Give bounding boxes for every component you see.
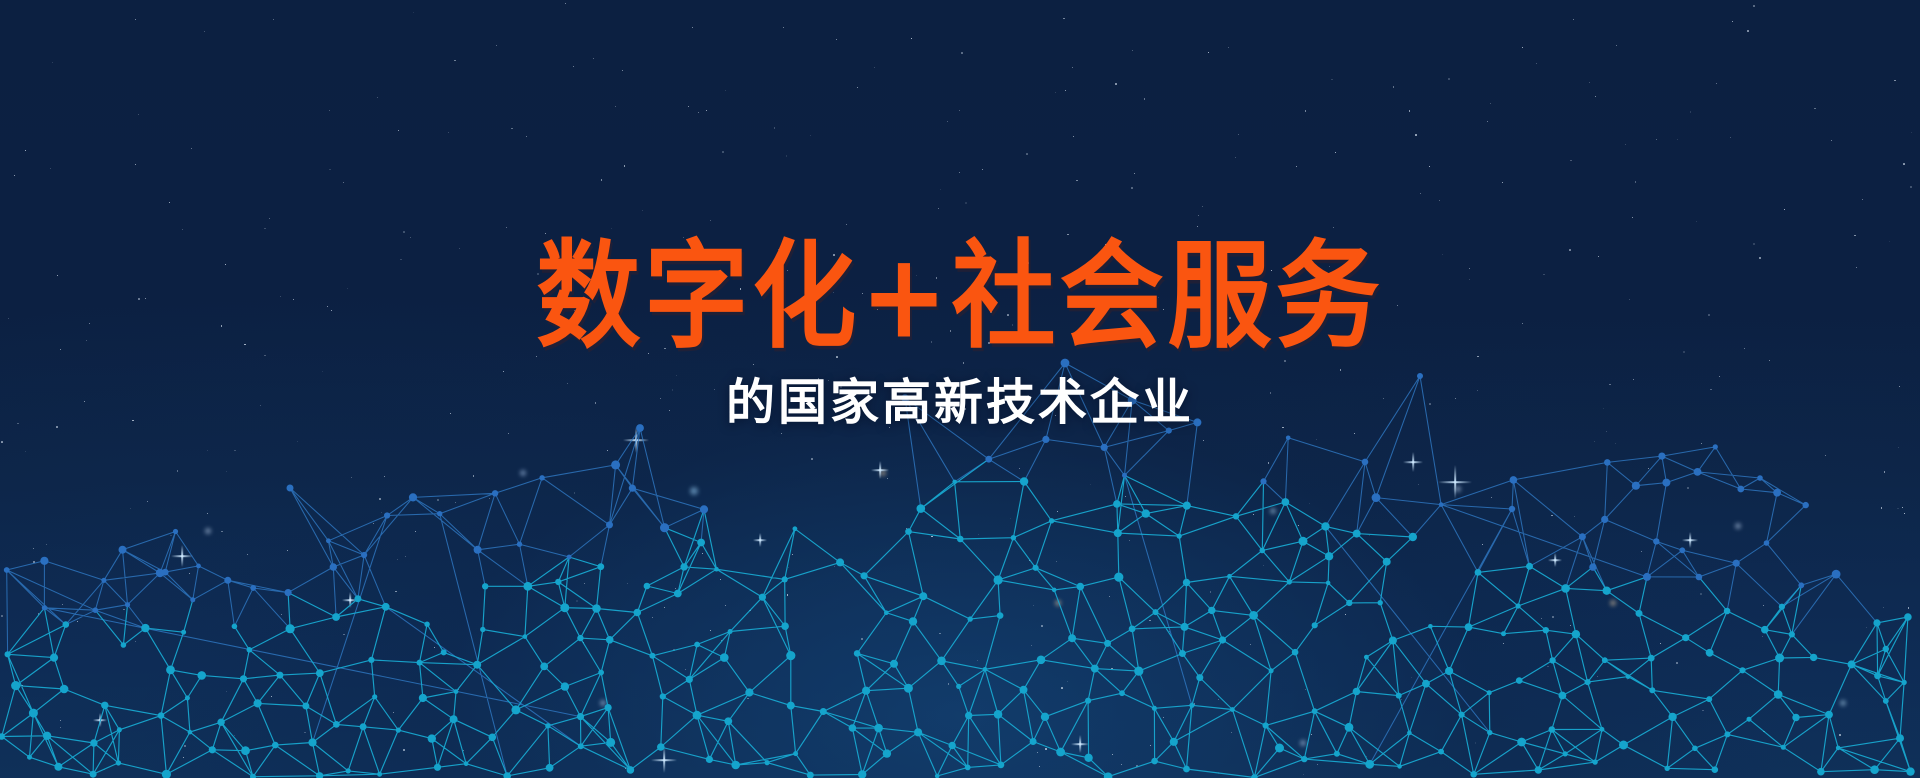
star-dot [403,231,405,233]
star-dot [1144,98,1146,100]
network-node [883,749,891,757]
network-node [781,622,789,630]
star-dot [244,344,246,346]
network-node [90,739,97,746]
network-node [793,751,798,756]
network-node [1487,690,1492,695]
network-node [1365,760,1374,769]
star-dot [1448,78,1450,80]
network-node [1409,533,1417,541]
network-node [1346,600,1352,606]
network-node [254,699,262,707]
network-node [1561,584,1570,593]
network-node [511,705,520,714]
star-dot [1690,111,1691,112]
star-dot [1131,187,1133,189]
network-node [1233,513,1239,519]
star-dot [1732,21,1733,22]
network-node [1724,731,1730,737]
network-node [1353,530,1361,538]
network-node [209,746,216,753]
star-dot [398,130,399,131]
star-dot [1856,267,1857,268]
star-dot [1072,67,1073,68]
network-node [489,734,497,742]
star-dot [273,19,274,20]
network-node [217,719,224,726]
network-node [1579,533,1586,540]
network-node [627,766,635,774]
network-node [745,688,753,696]
network-node [354,595,361,602]
network-node [545,723,550,728]
network-node [224,577,231,584]
network-node [302,703,309,710]
network-node [247,647,253,653]
network-node [1114,573,1123,582]
star-dot [740,288,742,290]
network-node [1559,692,1567,700]
star-dot [1335,152,1336,153]
star-dot [810,135,811,136]
star-dot [264,355,265,356]
network-node [905,528,912,535]
star-dot [204,31,206,33]
network-node [1724,608,1731,615]
network-node [1152,706,1157,711]
network-node [190,597,195,602]
network-node [919,592,927,600]
network-node [250,585,256,591]
network-node [1282,498,1290,506]
star-dot [57,275,58,276]
network-node [820,708,827,715]
network-node [1372,493,1381,502]
star-dot [611,228,612,229]
network-node [1739,667,1745,673]
network-node [1600,727,1605,732]
network-node [1636,610,1643,617]
star-dot [862,293,863,294]
star-dot [805,268,806,269]
star-dot [138,298,140,300]
network-node [983,667,988,672]
star-dot [857,87,858,88]
star-dot [1894,80,1896,82]
star-dot [89,323,91,325]
network-node [1134,667,1143,676]
star-dot [624,165,626,167]
network-node [697,539,705,547]
network-node [890,660,898,668]
network-node [382,603,390,611]
network-node [1487,730,1492,735]
network-node [1396,693,1402,699]
star-dot [1522,323,1523,324]
star-dot [8,318,10,320]
network-node [1263,722,1269,728]
network-node [441,649,447,655]
network-node [40,557,48,565]
network-node [316,669,324,677]
network-node [1260,548,1266,554]
network-node [1287,579,1292,584]
star-dot [135,19,137,21]
network-node [1326,581,1331,586]
network-node [917,504,926,513]
network-node [649,653,655,659]
star-dot [1744,348,1745,349]
network-node [437,511,442,516]
network-node [561,682,569,690]
network-node [567,555,572,560]
network-node [1817,768,1825,776]
network-node [849,724,857,732]
network-node [1299,537,1308,546]
network-node [862,687,870,695]
star-dot [581,311,582,312]
network-node [1383,558,1391,566]
network-node [1033,565,1039,571]
star-dot [601,179,603,181]
network-node [1706,696,1712,702]
star-dot [145,298,146,299]
network-node [1781,745,1786,750]
network-node [874,724,883,733]
network-node [854,650,861,657]
network-node [611,460,620,469]
star-dot [615,106,616,107]
star-dot [293,299,294,300]
network-node [1632,482,1640,490]
network-node [1269,668,1274,673]
network-node [1904,613,1912,621]
network-node [1362,459,1369,466]
network-node [428,734,436,742]
network-node [1870,765,1879,774]
star-dot [846,224,847,225]
network-node [1658,453,1665,460]
network-node [4,567,10,573]
star-dot [496,45,497,46]
network-node [674,590,682,598]
network-node [11,681,20,690]
network-node [1439,502,1444,507]
star-dot [1153,273,1154,274]
network-node [1803,502,1809,508]
network-node [1825,711,1833,719]
network-node [1535,766,1542,773]
network-node [492,490,498,496]
star-dot [961,52,963,54]
network-node [276,672,283,679]
network-node [326,538,331,543]
network-node [629,485,636,492]
star-dot [1569,249,1571,251]
network-node [765,760,770,765]
network-node [1249,611,1258,620]
network-node [1407,731,1412,736]
network-node [1810,654,1817,661]
network-node [1774,690,1783,699]
star-dot [1228,47,1229,48]
network-node [1589,563,1596,570]
network-node [119,546,127,554]
star-dot [135,164,136,165]
network-node [1747,717,1752,722]
network-node [952,480,956,484]
star-dot [1263,291,1264,292]
star-dot [1244,331,1245,332]
network-node [287,485,294,492]
network-node [660,523,669,532]
star-dot [169,202,170,203]
network-node [1848,660,1856,668]
network-node [1733,560,1740,567]
network-node [1713,444,1718,449]
star-dot [874,67,875,68]
network-node [1665,766,1670,771]
star-dot [1862,199,1863,200]
network-node [1129,626,1136,633]
star-dot [1180,339,1181,340]
star-dot [664,348,666,350]
network-node [1334,751,1340,757]
star-dot [1598,256,1599,257]
network-node [1183,502,1191,510]
star-dot [1730,137,1731,138]
network-node [1470,771,1477,778]
network-node [1798,582,1804,588]
star-dot [1073,136,1074,137]
star-dot [1331,79,1333,81]
network-node [333,721,340,728]
network-node [937,657,946,666]
network-node [396,728,401,733]
network-node [700,505,708,513]
network-node [686,676,693,683]
star-dot [1308,306,1309,307]
network-node [1832,570,1841,579]
network-node [1122,473,1127,478]
star-dot [1625,144,1626,145]
network-node [1042,436,1049,443]
star-dot [1753,5,1755,7]
star-dot [1903,163,1905,165]
network-node [1475,569,1482,576]
network-node [1301,756,1307,762]
page-title: 数字化+社会服务 [536,238,1383,354]
network-node [914,728,922,736]
star-dot [947,121,949,123]
network-node [272,742,279,749]
network-node [1549,726,1556,733]
network-node [101,702,108,709]
network-node [60,685,69,694]
network-node [1604,459,1611,466]
network-node [1227,574,1232,579]
star-dot [1158,297,1159,298]
network-node [197,671,206,680]
network-node [523,582,532,591]
network-node [1219,636,1226,643]
network-node [162,770,171,778]
network-node [434,764,441,771]
star-dot [221,325,222,326]
network-node [1230,707,1235,712]
star-dot [459,248,460,249]
network-node [1643,573,1651,581]
network-node [539,475,544,480]
network-node [540,663,548,671]
star-dot [1595,96,1596,97]
star-dot [377,97,378,98]
network-node [286,624,295,633]
network-node [1509,506,1515,512]
network-node [597,563,604,570]
star-dot [1490,103,1491,104]
network-node [606,636,614,644]
network-node [1775,654,1784,663]
star-dot [506,227,507,228]
star-dot [1708,314,1710,316]
network-node [1208,607,1215,614]
network-node [714,567,719,572]
star-dot [1393,86,1395,88]
star-dot [916,275,918,277]
star-dot [573,66,574,67]
network-node [185,696,190,701]
network-node [555,579,561,585]
network-node [1649,687,1655,693]
star-dot [1635,181,1636,182]
star-dot [526,136,527,137]
star-dot [1415,134,1417,136]
star-dot [722,151,724,153]
network-node [1113,500,1121,508]
star-dot [454,60,456,62]
star-dot [329,110,331,112]
network-node [1389,637,1397,645]
star-dot [1683,351,1685,353]
network-node [196,564,201,569]
network-node [424,622,429,627]
star-dot [877,309,878,310]
network-node [793,526,798,531]
network-node [1761,626,1769,634]
network-node [1585,679,1591,685]
star-dot [1632,217,1633,218]
star-dot [1197,226,1198,227]
star-dot [938,208,939,209]
network-node [361,552,367,558]
star-dot [683,237,684,238]
network-node [1692,746,1698,752]
star-dot [967,243,968,244]
star-dot [692,27,693,28]
network-node [1091,665,1099,673]
network-node [1836,746,1841,751]
network-node [384,512,390,518]
network-node [141,624,149,632]
network-node [1428,624,1433,629]
network-node [1275,744,1284,753]
network-node [473,661,481,669]
star-dot [1696,221,1697,222]
network-node [720,653,729,662]
star-dot [787,270,788,271]
star-dot [1027,262,1029,264]
star-dot [725,90,726,91]
star-dot [1026,153,1028,155]
star-dot [593,58,594,59]
star-dot [774,127,776,129]
network-node [994,710,1003,719]
network-node [1764,540,1770,546]
network-node [1312,708,1318,714]
network-node [1543,627,1549,633]
network-node [985,456,992,463]
star-dot [671,249,673,251]
network-node [759,594,766,601]
star-dot [1502,182,1503,183]
network-node [1549,657,1555,663]
network-node [598,670,604,676]
star-dot [1397,305,1398,306]
network-node [5,651,11,657]
network-node [694,642,700,648]
star-dot [706,110,707,111]
star-dot [536,356,537,357]
network-node [454,689,459,694]
network-node [232,624,238,630]
star-dot [710,220,711,221]
star-dot [1329,266,1330,267]
star-dot [1784,209,1785,210]
network-node [1874,672,1881,679]
network-node [1516,603,1521,608]
network-node [1286,436,1291,441]
network-node [693,711,702,720]
network-node [409,493,417,501]
star-dot [1889,241,1890,242]
network-node [680,563,687,570]
network-node [1737,486,1744,493]
network-node [417,660,423,666]
network-node [43,732,51,740]
star-dot [1487,121,1488,122]
star-dot [511,128,512,129]
star-dot [622,265,624,267]
network-constellation-graphic [0,358,1920,778]
star-dot [14,175,16,177]
network-node [904,684,913,693]
network-node [1151,758,1158,765]
star-dot [1429,166,1430,167]
network-node [786,651,795,660]
star-dot [1063,18,1064,19]
network-node [1196,674,1203,681]
network-node [116,760,121,765]
star-dot [1305,110,1306,111]
star-dot [1296,166,1297,167]
network-node [1170,738,1178,746]
network-node [592,604,601,613]
network-node [27,755,32,760]
star-dot [1629,299,1630,300]
network-node [1572,630,1580,638]
star-dot [52,62,53,63]
